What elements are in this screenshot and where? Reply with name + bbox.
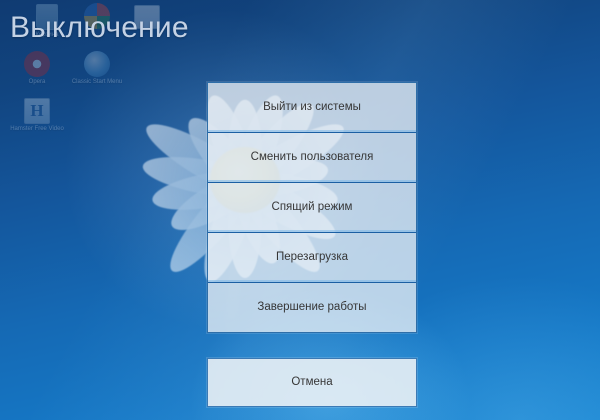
menu-item-log-off[interactable]: Выйти из системы [208, 83, 416, 133]
cancel-button[interactable]: Отмена [207, 358, 417, 407]
classic-start-menu-icon[interactable]: Classic Start Menu [68, 50, 126, 86]
menu-item-label: Перезагрузка [276, 251, 348, 263]
power-options-menu: Выйти из системыСменить пользователяСпящ… [207, 82, 417, 333]
menu-item-sleep[interactable]: Спящий режим [208, 183, 416, 233]
desktop-icon-label: Opera [8, 79, 66, 86]
opera-browser-icon[interactable]: Opera [8, 50, 66, 86]
menu-item-label: Спящий режим [272, 201, 353, 213]
opera-glyph-icon [24, 51, 50, 77]
desktop-icon-label: Classic Start Menu [68, 79, 126, 86]
menu-item-switch-user[interactable]: Сменить пользователя [208, 133, 416, 183]
menu-item-label: Завершение работы [257, 301, 366, 313]
h-glyph-icon: H [24, 98, 50, 124]
menu-item-shutdown[interactable]: Завершение работы [208, 283, 416, 332]
menu-item-label: Сменить пользователя [251, 151, 374, 163]
hamster-app-icon[interactable]: HHamster Free Video [8, 96, 66, 133]
menu-item-label: Выйти из системы [263, 101, 361, 113]
shutdown-dialog-screen: КорзинаOperaClassic Start MenuHHamster F… [0, 0, 600, 420]
cancel-button-label: Отмена [291, 376, 332, 388]
winlogo-glyph-icon [84, 51, 110, 77]
page-title: Выключение [10, 11, 189, 45]
desktop-icon-label: Hamster Free Video [8, 126, 66, 133]
menu-item-restart[interactable]: Перезагрузка [208, 233, 416, 283]
